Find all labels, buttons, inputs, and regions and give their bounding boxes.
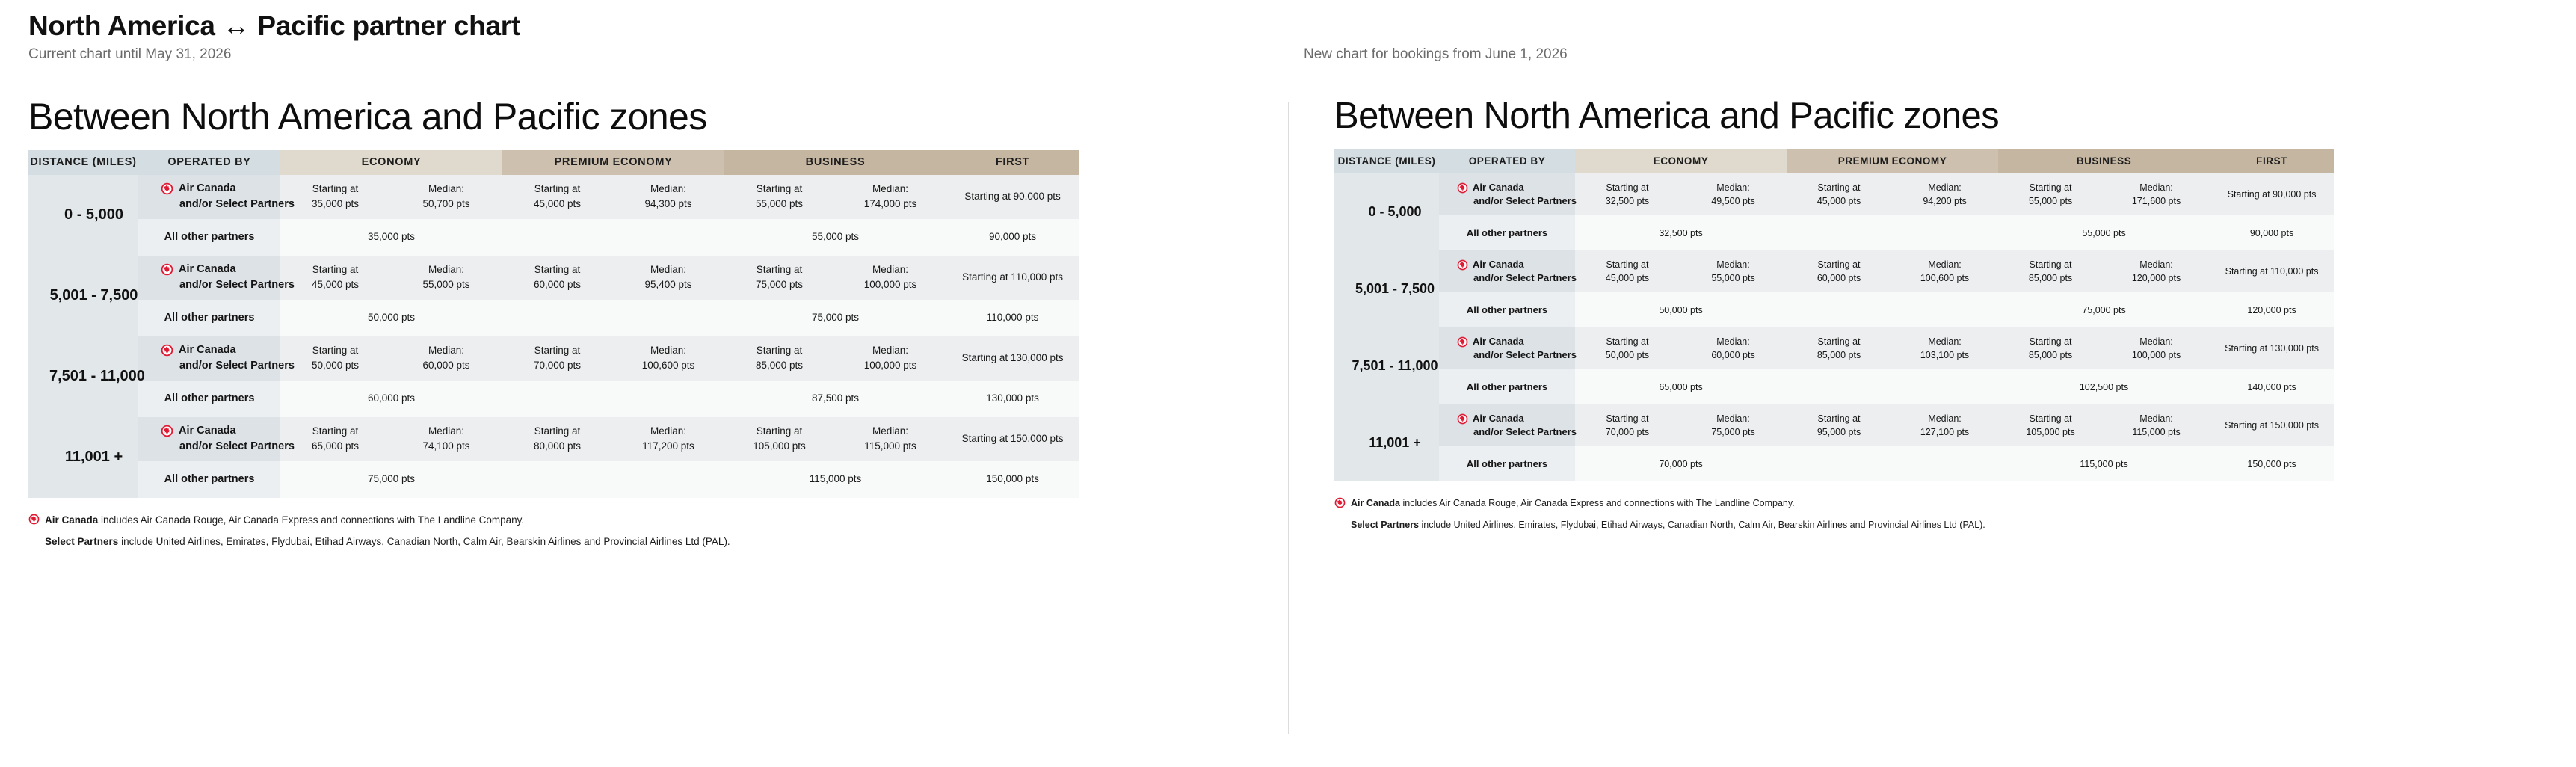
operated-by-air-canada: Air Canada and/or Select Partners (138, 336, 280, 381)
footnote-text: includes Air Canada Rouge, Air Canada Ex… (1400, 498, 1795, 508)
value-number: 94,200 pts (1891, 194, 1998, 208)
operated-by-other: All other partners (1439, 215, 1575, 250)
value-number: 85,000 pts (1787, 348, 1891, 362)
air-canada-logo-icon (1334, 497, 1346, 508)
cell-economy-median: Median: 75,000 pts (1680, 404, 1787, 446)
value-label: Median: (390, 343, 502, 358)
cell-business-other: 55,000 pts (1998, 215, 2210, 250)
table-row: All other partners 32,500 pts 55,000 pts… (1334, 215, 2334, 250)
cell-economy-other: 60,000 pts (280, 381, 502, 417)
cell-business-other: 102,500 pts (1998, 369, 2210, 404)
cell-economy-starting: Starting at 65,000 pts (280, 417, 390, 461)
value-label: Starting at (724, 424, 834, 439)
value-label: Median: (1680, 412, 1787, 425)
value-number: 45,000 pts (502, 197, 612, 212)
cell-economy-other: 70,000 pts (1575, 446, 1787, 481)
cell-premium-median: Median: 100,600 pts (1891, 250, 1998, 292)
cell-business-starting: Starting at 55,000 pts (724, 175, 834, 219)
cell-business-median: Median: 100,000 pts (834, 336, 946, 381)
cell-premium-starting: Starting at 85,000 pts (1787, 327, 1891, 369)
air-canada-label: Air Canada (1473, 258, 1524, 272)
value-label: Starting at (724, 262, 834, 277)
value-number: 32,500 pts (1575, 194, 1680, 208)
cell-economy-starting: Starting at 45,000 pts (280, 256, 390, 300)
value-label: Starting at (1575, 258, 1680, 271)
cell-first-other: 150,000 pts (946, 461, 1079, 498)
value-label: Starting at (502, 343, 612, 358)
cell-business-other: 115,000 pts (724, 461, 946, 498)
value-number: 55,000 pts (1680, 271, 1787, 285)
cell-economy-median: Median: 50,700 pts (390, 175, 502, 219)
distance-label: 7,501 - 11,000 (1334, 327, 1439, 404)
value-label: Median: (2103, 412, 2210, 425)
value-label: Median: (1680, 258, 1787, 271)
header-distance: DISTANCE (MILES) (1334, 149, 1439, 173)
value-label: Starting at (1998, 335, 2103, 348)
footnote-term: Air Canada (1351, 498, 1400, 508)
cell-first-other: 90,000 pts (946, 219, 1079, 256)
cell-premium-median: Median: 100,600 pts (612, 336, 724, 381)
table-row: All other partners 35,000 pts 55,000 pts… (28, 219, 1079, 256)
cell-premium-other (502, 219, 724, 256)
air-canada-line: Air Canada (161, 262, 280, 277)
value-label: Starting at (280, 182, 390, 197)
value-label: Starting at (1787, 258, 1891, 271)
air-canada-logo-icon (161, 344, 173, 357)
air-canada-label: Air Canada (1473, 181, 1524, 195)
value-label: Starting at (1998, 258, 2103, 271)
select-partners-line: and/or Select Partners (161, 358, 280, 374)
value-number: 171,600 pts (2103, 194, 2210, 208)
value-number: 127,100 pts (1891, 425, 1998, 439)
cell-economy-other: 65,000 pts (1575, 369, 1787, 404)
value-number: 105,000 pts (1998, 425, 2103, 439)
cell-first: Starting at 110,000 pts (2210, 250, 2334, 292)
value-label: Starting at (1787, 181, 1891, 194)
value-label: Median: (390, 182, 502, 197)
header-operated-by: OPERATED BY (1439, 149, 1575, 173)
value-label: Median: (834, 424, 946, 439)
left-table-header: DISTANCE (MILES) OPERATED BY ECONOMY PRE… (28, 150, 1079, 175)
value-label: Median: (834, 262, 946, 277)
table-row: All other partners 65,000 pts 102,500 pt… (1334, 369, 2334, 404)
cell-economy-other: 35,000 pts (280, 219, 502, 256)
value-label: Starting at (280, 424, 390, 439)
cell-business-starting: Starting at 55,000 pts (1998, 173, 2103, 215)
select-partners-line: and/or Select Partners (161, 439, 280, 455)
cell-economy-median: Median: 49,500 pts (1680, 173, 1787, 215)
value-number: 100,000 pts (834, 277, 946, 292)
select-partners-line: and/or Select Partners (161, 277, 280, 293)
left-footnotes: Air Canada includes Air Canada Rouge, Ai… (28, 513, 1269, 551)
header-premium-economy: PREMIUM ECONOMY (502, 150, 724, 175)
cell-first: Starting at 90,000 pts (946, 175, 1079, 219)
distance-label: 0 - 5,000 (28, 175, 138, 256)
right-footnotes: Air Canada includes Air Canada Rouge, Ai… (1334, 496, 2545, 532)
value-label: Median: (834, 343, 946, 358)
value-label: Median: (1891, 258, 1998, 271)
cell-first: Starting at 110,000 pts (946, 256, 1079, 300)
air-canada-logo-icon (161, 425, 173, 437)
value-number: 75,000 pts (724, 277, 834, 292)
value-number: 80,000 pts (502, 439, 612, 454)
cell-economy-median: Median: 60,000 pts (1680, 327, 1787, 369)
value-number: 60,000 pts (1787, 271, 1891, 285)
cell-premium-median: Median: 94,200 pts (1891, 173, 1998, 215)
air-canada-logo-icon (161, 182, 173, 195)
cell-premium-starting: Starting at 95,000 pts (1787, 404, 1891, 446)
operated-by-other: All other partners (1439, 369, 1575, 404)
select-partners-line: and/or Select Partners (161, 197, 280, 212)
cell-premium-other (1787, 369, 1998, 404)
value-label: Median: (2103, 258, 2210, 271)
air-canada-line: Air Canada (1457, 335, 1575, 349)
cell-first: Starting at 130,000 pts (946, 336, 1079, 381)
air-canada-logo-icon (1457, 413, 1468, 425)
value-number: 55,000 pts (724, 197, 834, 212)
cell-premium-other (502, 381, 724, 417)
cell-economy-starting: Starting at 45,000 pts (1575, 250, 1680, 292)
value-number: 115,000 pts (834, 439, 946, 454)
value-label: Starting at (1787, 335, 1891, 348)
cell-premium-median: Median: 94,300 pts (612, 175, 724, 219)
value-number: 174,000 pts (834, 197, 946, 212)
cell-premium-other (502, 300, 724, 336)
air-canada-logo-icon (1457, 259, 1468, 271)
cell-business-median: Median: 174,000 pts (834, 175, 946, 219)
cell-economy-other: 32,500 pts (1575, 215, 1787, 250)
value-number: 45,000 pts (280, 277, 390, 292)
cell-first: Starting at 90,000 pts (2210, 173, 2334, 215)
footnote-select-partners: Select Partners include United Airlines,… (1334, 518, 2545, 532)
panel-divider (1288, 102, 1289, 734)
value-label: Starting at (724, 182, 834, 197)
value-number: 49,500 pts (1680, 194, 1787, 208)
table-row: 11,001 + Air Canada and/or Select Partne… (1334, 404, 2334, 446)
value-number: 100,600 pts (1891, 271, 1998, 285)
footnote-term: Select Partners (1351, 520, 1419, 530)
header-premium-economy: PREMIUM ECONOMY (1787, 149, 1998, 173)
header-operated-by: OPERATED BY (138, 150, 280, 175)
value-label: Starting at (502, 424, 612, 439)
value-number: 55,000 pts (390, 277, 502, 292)
header-first: FIRST (2210, 149, 2334, 173)
cell-business-starting: Starting at 75,000 pts (724, 256, 834, 300)
value-label: Starting at (1575, 181, 1680, 194)
footnote-text: include United Airlines, Emirates, Flydu… (1419, 520, 1985, 530)
operated-by-other: All other partners (138, 219, 280, 256)
cell-business-starting: Starting at 105,000 pts (1998, 404, 2103, 446)
table-row: 7,501 - 11,000 Air Canada and/or Select … (28, 336, 1079, 381)
value-label: Starting at (1787, 412, 1891, 425)
value-label: Median: (390, 424, 502, 439)
value-label: Median: (390, 262, 502, 277)
value-number: 94,300 pts (612, 197, 724, 212)
table-row: All other partners 50,000 pts 75,000 pts… (1334, 292, 2334, 327)
cell-first-other: 150,000 pts (2210, 446, 2334, 481)
cell-first-other: 120,000 pts (2210, 292, 2334, 327)
cell-premium-starting: Starting at 80,000 pts (502, 417, 612, 461)
cell-business-other: 55,000 pts (724, 219, 946, 256)
air-canada-label: Air Canada (179, 342, 236, 358)
operated-by-air-canada: Air Canada and/or Select Partners (1439, 250, 1575, 292)
header-economy: ECONOMY (1575, 149, 1787, 173)
value-number: 70,000 pts (502, 358, 612, 373)
value-label: Starting at (1575, 412, 1680, 425)
left-table-body: 0 - 5,000 Air Canada and/or Select Partn… (28, 175, 1079, 498)
table-row: All other partners 60,000 pts 87,500 pts… (28, 381, 1079, 417)
operated-by-other: All other partners (138, 461, 280, 498)
select-partners-line: and/or Select Partners (1457, 348, 1575, 363)
right-table-body: 0 - 5,000 Air Canada and/or Select Partn… (1334, 173, 2334, 481)
right-chart-title: Between North America and Pacific zones (1334, 97, 2545, 135)
air-canada-logo-icon (28, 514, 40, 525)
cell-first: Starting at 130,000 pts (2210, 327, 2334, 369)
cell-premium-other (1787, 292, 1998, 327)
air-canada-logo-icon (1457, 182, 1468, 194)
cell-first: Starting at 150,000 pts (946, 417, 1079, 461)
cell-premium-other (1787, 446, 1998, 481)
cell-economy-starting: Starting at 50,000 pts (1575, 327, 1680, 369)
cell-first: Starting at 150,000 pts (2210, 404, 2334, 446)
air-canada-line: Air Canada (161, 342, 280, 358)
cell-business-starting: Starting at 85,000 pts (1998, 250, 2103, 292)
operated-by-other: All other partners (138, 381, 280, 417)
right-chart-panel: Between North America and Pacific zones … (1334, 97, 2545, 532)
table-row: 0 - 5,000 Air Canada and/or Select Partn… (1334, 173, 2334, 215)
value-number: 35,000 pts (280, 197, 390, 212)
value-number: 70,000 pts (1575, 425, 1680, 439)
distance-label: 0 - 5,000 (1334, 173, 1439, 250)
air-canada-label: Air Canada (1473, 335, 1524, 349)
cell-economy-starting: Starting at 35,000 pts (280, 175, 390, 219)
cell-economy-median: Median: 55,000 pts (1680, 250, 1787, 292)
value-number: 100,000 pts (834, 358, 946, 373)
value-number: 45,000 pts (1575, 271, 1680, 285)
value-label: Median: (1891, 181, 1998, 194)
cell-business-median: Median: 115,000 pts (2103, 404, 2210, 446)
operated-by-air-canada: Air Canada and/or Select Partners (1439, 404, 1575, 446)
cell-premium-starting: Starting at 60,000 pts (1787, 250, 1891, 292)
value-number: 74,100 pts (390, 439, 502, 454)
value-label: Median: (612, 262, 724, 277)
select-partners-line: and/or Select Partners (1457, 271, 1575, 286)
air-canada-line: Air Canada (161, 181, 280, 197)
cell-economy-median: Median: 74,100 pts (390, 417, 502, 461)
value-label: Starting at (1998, 181, 2103, 194)
cell-business-median: Median: 100,000 pts (2103, 327, 2210, 369)
value-number: 50,700 pts (390, 197, 502, 212)
cell-business-starting: Starting at 105,000 pts (724, 417, 834, 461)
page-title: North America ↔ Pacific partner chart (28, 10, 1224, 43)
operated-by-air-canada: Air Canada and/or Select Partners (1439, 173, 1575, 215)
footnote-air-canada: Air Canada includes Air Canada Rouge, Ai… (1334, 496, 2545, 511)
cell-economy-median: Median: 60,000 pts (390, 336, 502, 381)
cell-premium-starting: Starting at 45,000 pts (502, 175, 612, 219)
value-number: 117,200 pts (612, 439, 724, 454)
left-chart-title: Between North America and Pacific zones (28, 97, 1269, 137)
distance-label: 5,001 - 7,500 (28, 256, 138, 336)
distance-label: 11,001 + (28, 417, 138, 498)
cell-premium-starting: Starting at 45,000 pts (1787, 173, 1891, 215)
table-row: All other partners 50,000 pts 75,000 pts… (28, 300, 1079, 336)
cell-premium-median: Median: 95,400 pts (612, 256, 724, 300)
cell-business-median: Median: 115,000 pts (834, 417, 946, 461)
air-canada-label: Air Canada (179, 423, 236, 439)
footnote-air-canada: Air Canada includes Air Canada Rouge, Ai… (28, 513, 1269, 529)
value-number: 85,000 pts (724, 358, 834, 373)
right-table-header: DISTANCE (MILES) OPERATED BY ECONOMY PRE… (1334, 149, 2334, 173)
cell-premium-other (502, 461, 724, 498)
page-header: North America ↔ Pacific partner chart Cu… (28, 10, 1224, 63)
cell-economy-starting: Starting at 32,500 pts (1575, 173, 1680, 215)
value-label: Starting at (502, 182, 612, 197)
value-number: 103,100 pts (1891, 348, 1998, 362)
cell-premium-starting: Starting at 60,000 pts (502, 256, 612, 300)
value-label: Median: (1891, 412, 1998, 425)
header-first: FIRST (946, 150, 1079, 175)
table-row: 0 - 5,000 Air Canada and/or Select Partn… (28, 175, 1079, 219)
value-number: 55,000 pts (1998, 194, 2103, 208)
header-economy: ECONOMY (280, 150, 502, 175)
value-label: Starting at (280, 262, 390, 277)
cell-business-other: 87,500 pts (724, 381, 946, 417)
header-distance: DISTANCE (MILES) (28, 150, 138, 175)
value-number: 50,000 pts (280, 358, 390, 373)
value-number: 60,000 pts (502, 277, 612, 292)
air-canada-line: Air Canada (1457, 258, 1575, 272)
left-fare-table: DISTANCE (MILES) OPERATED BY ECONOMY PRE… (28, 150, 1079, 498)
cell-first-other: 140,000 pts (2210, 369, 2334, 404)
cell-business-other: 75,000 pts (1998, 292, 2210, 327)
value-number: 95,000 pts (1787, 425, 1891, 439)
value-label: Median: (1680, 181, 1787, 194)
cell-business-median: Median: 171,600 pts (2103, 173, 2210, 215)
select-partners-line: and/or Select Partners (1457, 194, 1575, 209)
value-label: Median: (612, 343, 724, 358)
cell-business-starting: Starting at 85,000 pts (724, 336, 834, 381)
value-number: 85,000 pts (1998, 348, 2103, 362)
cell-business-other: 115,000 pts (1998, 446, 2210, 481)
cell-economy-starting: Starting at 70,000 pts (1575, 404, 1680, 446)
distance-label: 5,001 - 7,500 (1334, 250, 1439, 327)
air-canada-line: Air Canada (1457, 412, 1575, 426)
table-row: 7,501 - 11,000 Air Canada and/or Select … (1334, 327, 2334, 369)
air-canada-logo-icon (1457, 336, 1468, 348)
air-canada-line: Air Canada (161, 423, 280, 439)
value-number: 105,000 pts (724, 439, 834, 454)
value-label: Starting at (280, 343, 390, 358)
cell-economy-other: 50,000 pts (1575, 292, 1787, 327)
footnote-select-partners: Select Partners include United Airlines,… (28, 535, 1269, 550)
value-label: Median: (834, 182, 946, 197)
cell-premium-median: Median: 103,100 pts (1891, 327, 1998, 369)
value-number: 45,000 pts (1787, 194, 1891, 208)
value-label: Median: (1680, 335, 1787, 348)
air-canada-label: Air Canada (179, 181, 236, 197)
value-label: Starting at (502, 262, 612, 277)
cell-business-other: 75,000 pts (724, 300, 946, 336)
right-panel-label: New chart for bookings from June 1, 2026 (1304, 46, 1568, 63)
cell-first-other: 110,000 pts (946, 300, 1079, 336)
air-canada-logo-icon (161, 263, 173, 276)
value-number: 75,000 pts (1680, 425, 1787, 439)
value-number: 100,600 pts (612, 358, 724, 373)
value-label: Starting at (724, 343, 834, 358)
cell-premium-other (1787, 215, 1998, 250)
footnote-text: includes Air Canada Rouge, Air Canada Ex… (98, 514, 524, 526)
operated-by-air-canada: Air Canada and/or Select Partners (138, 417, 280, 461)
operated-by-air-canada: Air Canada and/or Select Partners (138, 175, 280, 219)
cell-premium-median: Median: 127,100 pts (1891, 404, 1998, 446)
value-number: 85,000 pts (1998, 271, 2103, 285)
value-number: 95,400 pts (612, 277, 724, 292)
footnote-text: include United Airlines, Emirates, Flydu… (118, 536, 730, 547)
cell-economy-starting: Starting at 50,000 pts (280, 336, 390, 381)
cell-business-starting: Starting at 85,000 pts (1998, 327, 2103, 369)
operated-by-air-canada: Air Canada and/or Select Partners (138, 256, 280, 300)
value-label: Median: (1891, 335, 1998, 348)
value-number: 60,000 pts (1680, 348, 1787, 362)
header-business: BUSINESS (1998, 149, 2210, 173)
footnote-term: Air Canada (45, 514, 98, 526)
value-label: Starting at (1998, 412, 2103, 425)
value-label: Median: (612, 424, 724, 439)
operated-by-other: All other partners (1439, 446, 1575, 481)
value-number: 60,000 pts (390, 358, 502, 373)
right-fare-table: DISTANCE (MILES) OPERATED BY ECONOMY PRE… (1334, 149, 2334, 481)
cell-business-median: Median: 120,000 pts (2103, 250, 2210, 292)
operated-by-other: All other partners (1439, 292, 1575, 327)
operated-by-other: All other partners (138, 300, 280, 336)
value-label: Median: (2103, 181, 2210, 194)
value-label: Median: (612, 182, 724, 197)
header-business: BUSINESS (724, 150, 946, 175)
distance-label: 11,001 + (1334, 404, 1439, 481)
cell-first-other: 90,000 pts (2210, 215, 2334, 250)
air-canada-line: Air Canada (1457, 181, 1575, 195)
table-row: 5,001 - 7,500 Air Canada and/or Select P… (1334, 250, 2334, 292)
left-chart-panel: Between North America and Pacific zones … (28, 97, 1269, 550)
value-label: Starting at (1575, 335, 1680, 348)
cell-economy-other: 50,000 pts (280, 300, 502, 336)
value-number: 50,000 pts (1575, 348, 1680, 362)
value-number: 120,000 pts (2103, 271, 2210, 285)
footnote-term: Select Partners (45, 536, 118, 547)
distance-label: 7,501 - 11,000 (28, 336, 138, 417)
value-label: Median: (2103, 335, 2210, 348)
cell-premium-median: Median: 117,200 pts (612, 417, 724, 461)
page-subtitle: Current chart until May 31, 2026 (28, 46, 1224, 64)
table-row: All other partners 75,000 pts 115,000 pt… (28, 461, 1079, 498)
cell-economy-other: 75,000 pts (280, 461, 502, 498)
cell-premium-starting: Starting at 70,000 pts (502, 336, 612, 381)
value-number: 100,000 pts (2103, 348, 2210, 362)
cell-first-other: 130,000 pts (946, 381, 1079, 417)
cell-business-median: Median: 100,000 pts (834, 256, 946, 300)
value-number: 115,000 pts (2103, 425, 2210, 439)
value-number: 65,000 pts (280, 439, 390, 454)
cell-economy-median: Median: 55,000 pts (390, 256, 502, 300)
air-canada-label: Air Canada (179, 262, 236, 277)
operated-by-air-canada: Air Canada and/or Select Partners (1439, 327, 1575, 369)
air-canada-label: Air Canada (1473, 412, 1524, 426)
table-row: 11,001 + Air Canada and/or Select Partne… (28, 417, 1079, 461)
table-row: All other partners 70,000 pts 115,000 pt… (1334, 446, 2334, 481)
select-partners-line: and/or Select Partners (1457, 425, 1575, 440)
table-row: 5,001 - 7,500 Air Canada and/or Select P… (28, 256, 1079, 300)
